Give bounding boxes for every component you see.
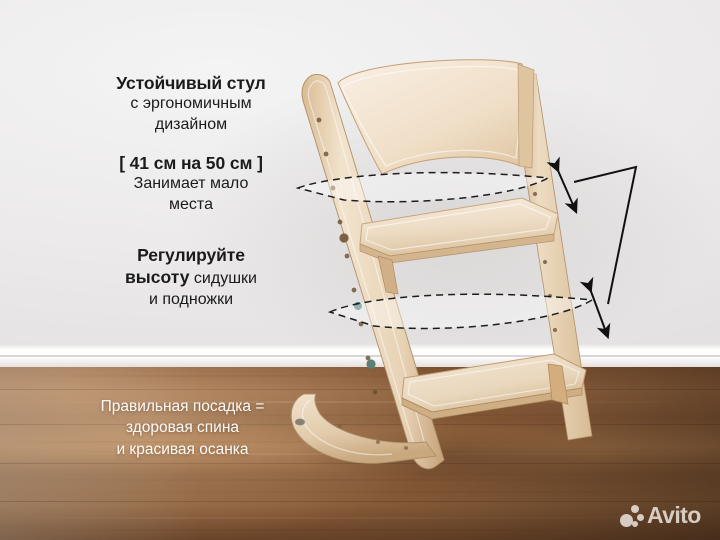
- avito-watermark: Avito: [620, 503, 706, 529]
- footprint-heading: [ 41 см на 50 см ]: [96, 152, 286, 174]
- avito-dots-icon: [620, 505, 644, 527]
- stability-line2: с эргономичным: [96, 94, 286, 114]
- seat-fixing-knob: [339, 233, 348, 242]
- copy-block-footprint: [ 41 см на 50 см ] Занимает мало места: [96, 152, 286, 215]
- adjustable-line2: высоту сидушки: [96, 266, 286, 289]
- backrest-panel: [338, 60, 534, 174]
- posture-line2: здоровая спина: [60, 417, 305, 438]
- footrest-panel: [402, 354, 586, 419]
- adjustable-line3: и подножки: [96, 290, 286, 310]
- footrest-fixing-knob: [366, 359, 375, 368]
- posture-copy-block: Правильная посадка = здоровая спина и кр…: [60, 396, 305, 460]
- footrest-height-arrow: [589, 286, 606, 332]
- avito-wordmark: Avito: [647, 502, 701, 529]
- adjustable-line2-bold: высоту: [125, 267, 189, 287]
- posture-line1: Правильная посадка =: [60, 396, 305, 417]
- product-photo-card: Устойчивый стул с эргономичным дизайном …: [0, 0, 720, 540]
- height-adjustment-annotation: [540, 150, 700, 350]
- adjustable-line2-rest: сидушки: [189, 270, 257, 287]
- adjustable-heading: Регулируйте: [96, 244, 286, 266]
- stability-line3: дизайном: [96, 115, 286, 135]
- footprint-line2: Занимает мало: [96, 174, 286, 194]
- seat-panel: [360, 198, 558, 294]
- annotation-bracket: [574, 167, 636, 304]
- copy-block-stability: Устойчивый стул с эргономичным дизайном: [96, 72, 286, 135]
- posture-line3: и красивая осанка: [60, 439, 305, 460]
- seat-height-arrow: [556, 166, 574, 207]
- stability-heading: Устойчивый стул: [96, 72, 286, 94]
- copy-block-adjustable: Регулируйте высоту сидушки и подножки: [96, 244, 286, 310]
- footprint-line3: места: [96, 195, 286, 215]
